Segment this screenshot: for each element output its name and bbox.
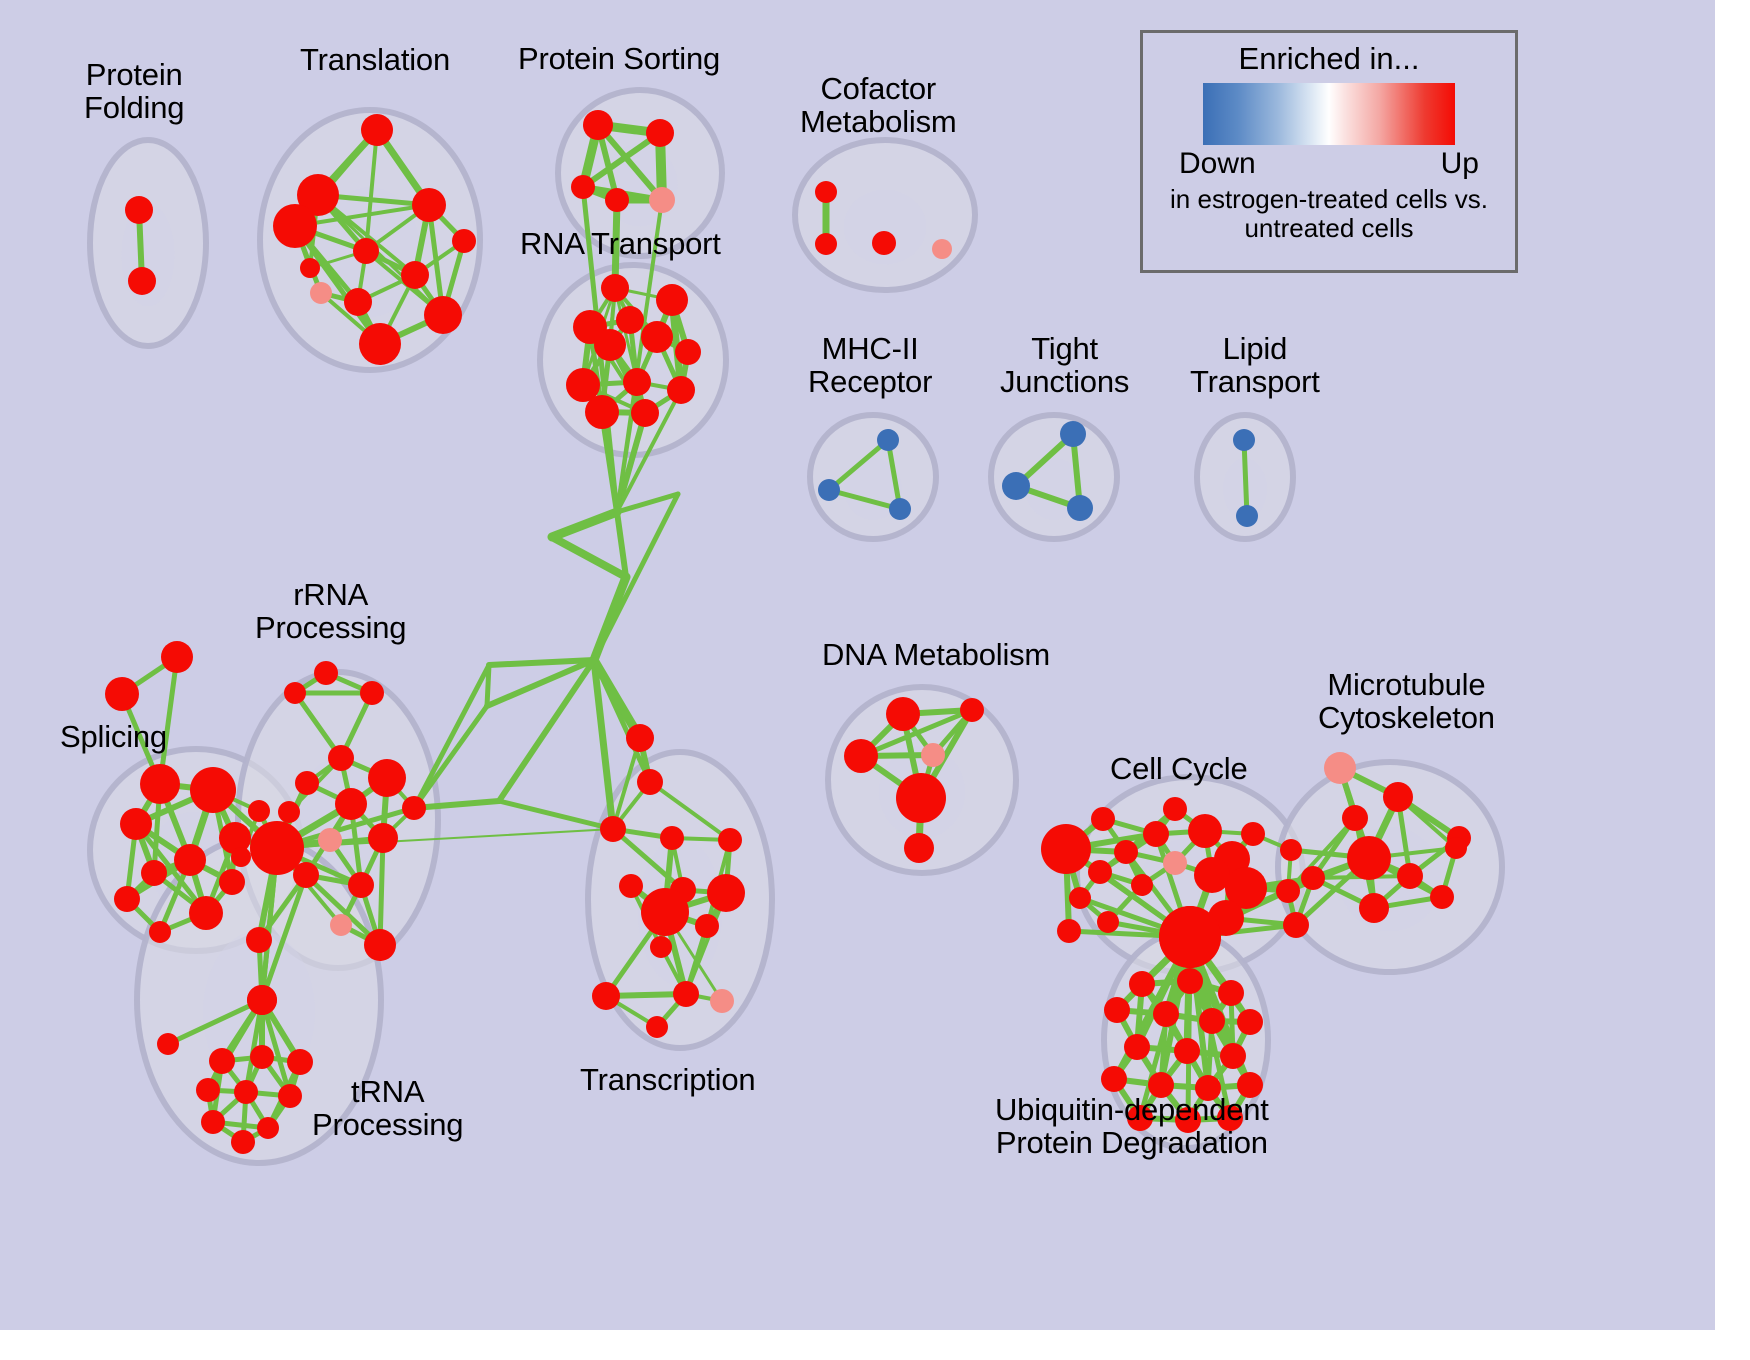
gene-set-node[interactable] [1301,866,1325,890]
gene-set-node[interactable] [1342,805,1368,831]
gene-set-node[interactable] [660,826,684,850]
gene-set-node[interactable] [231,1130,255,1154]
gene-set-node[interactable] [1143,821,1169,847]
gene-set-node[interactable] [1347,836,1391,880]
legend-color-gradient-bar [1203,83,1455,145]
gene-set-node[interactable] [314,661,338,685]
gene-set-node[interactable] [361,114,393,146]
gene-set-node[interactable] [348,872,374,898]
gene-set-node[interactable] [128,267,156,295]
gene-set-node[interactable] [1163,797,1187,821]
legend-subtitle: in estrogen-treated cells vs. untreated … [1143,185,1515,243]
gene-set-node[interactable] [904,833,934,863]
cluster-label: RNA Transport [520,227,721,260]
gene-set-node[interactable] [921,743,945,767]
gene-set-node[interactable] [1324,752,1356,784]
cluster-label: DNA Metabolism [822,638,1050,671]
gene-set-node[interactable] [1237,1009,1263,1035]
gene-set-node[interactable] [616,306,644,334]
inter-cluster-edge [414,665,489,808]
gene-set-node[interactable] [105,677,139,711]
gene-set-node[interactable] [1397,863,1423,889]
gene-set-node[interactable] [310,282,332,304]
gene-set-node[interactable] [650,936,672,958]
gene-set-node[interactable] [1199,1008,1225,1034]
cluster-label: Protein Sorting [518,42,720,75]
gene-set-node[interactable] [1069,887,1091,909]
gene-set-node[interactable] [190,767,236,813]
cluster-label: Tight Junctions [1000,332,1129,399]
gene-set-node[interactable] [452,229,476,253]
gene-set-node[interactable] [1177,968,1203,994]
gene-set-node[interactable] [140,764,180,804]
gene-set-node[interactable] [278,1084,302,1108]
cluster-label: MHC-II Receptor [808,332,932,399]
gene-set-node[interactable] [623,368,651,396]
gene-set-node[interactable] [877,429,899,451]
gene-set-node[interactable] [641,888,689,936]
gene-set-node[interactable] [359,323,401,365]
gene-set-node[interactable] [1233,429,1255,451]
inter-cluster-edge [552,512,617,537]
gene-set-node[interactable] [896,773,946,823]
gene-set-node[interactable] [889,498,911,520]
gene-set-node[interactable] [585,395,619,429]
gene-set-node[interactable] [196,1078,220,1102]
gene-set-node[interactable] [231,847,251,867]
gene-set-node[interactable] [368,759,406,797]
gene-set-node[interactable] [300,258,320,278]
gene-set-node[interactable] [125,196,153,224]
gene-set-node[interactable] [601,274,629,302]
gene-set-node[interactable] [637,769,663,795]
cluster-label: Transcription [580,1063,755,1096]
gene-set-node[interactable] [1280,839,1302,861]
gene-set-node[interactable] [344,288,372,316]
gene-set-node[interactable] [273,204,317,248]
gene-set-node[interactable] [368,823,398,853]
gene-set-node[interactable] [250,1045,274,1069]
cluster-label: Cofactor Metabolism [800,72,957,139]
gene-set-node[interactable] [667,376,695,404]
cluster-label: Lipid Transport [1190,332,1320,399]
gene-set-node[interactable] [234,1080,258,1104]
gene-set-node[interactable] [209,1048,235,1074]
gene-set-node[interactable] [710,989,734,1013]
gene-set-node[interactable] [626,724,654,752]
gene-set-node[interactable] [571,175,595,199]
gene-set-node[interactable] [1283,912,1309,938]
gene-set-node[interactable] [412,188,446,222]
gene-set-node[interactable] [1124,1034,1150,1060]
gene-set-node[interactable] [246,927,272,953]
gene-set-node[interactable] [1220,1043,1246,1069]
inter-cluster-edge [552,537,626,577]
gene-set-node[interactable] [646,119,674,147]
gene-set-node[interactable] [1114,840,1138,864]
cluster-label: Ubiquitin-dependent Protein Degradation [995,1093,1269,1160]
gene-set-node[interactable] [1163,851,1187,875]
gene-set-node[interactable] [1104,997,1130,1023]
gene-set-node[interactable] [631,399,659,427]
gene-set-node[interactable] [1383,782,1413,812]
inter-cluster-edge [499,801,613,829]
gene-set-node[interactable] [1276,879,1300,903]
gene-set-node[interactable] [872,231,896,255]
gene-set-node[interactable] [201,1110,225,1134]
legend-title: Enriched in... [1239,41,1420,77]
gene-set-node[interactable] [293,862,319,888]
gene-set-node[interactable] [1088,860,1112,884]
cluster-edge [1244,440,1247,516]
cluster-label: Cell Cycle [1110,752,1248,785]
gene-set-node[interactable] [1188,814,1222,848]
gene-set-node[interactable] [284,682,306,704]
gene-set-node[interactable] [1359,893,1389,923]
cluster-label: Translation [300,43,450,76]
gene-set-node[interactable] [646,1016,668,1038]
gene-set-node[interactable] [189,896,223,930]
gene-set-node[interactable] [174,844,206,876]
gene-set-node[interactable] [219,869,245,895]
legend-panel: Enriched in... Down Up in estrogen-treat… [1140,30,1518,273]
gene-set-node[interactable] [641,321,673,353]
cluster-label: Splicing [60,720,167,753]
gene-set-node[interactable] [1131,874,1153,896]
cluster-label: tRNA Processing [312,1075,463,1142]
cluster-label: Microtubule Cytoskeleton [1318,668,1495,735]
gene-set-node[interactable] [278,801,300,823]
gene-set-node[interactable] [149,921,171,943]
cluster-label: rRNA Processing [255,578,406,645]
gene-set-node[interactable] [1097,911,1119,933]
gene-set-node[interactable] [1091,807,1115,831]
gene-set-node[interactable] [619,874,643,898]
gene-set-node[interactable] [844,739,878,773]
gene-set-node[interactable] [707,874,745,912]
gene-set-node[interactable] [673,981,699,1007]
gene-set-node[interactable] [248,800,270,822]
gene-set-node[interactable] [815,233,837,255]
gene-set-node[interactable] [583,110,613,140]
gene-set-node[interactable] [295,771,319,795]
gene-set-node[interactable] [1194,857,1230,893]
legend-up-label: Up [1441,147,1479,181]
gene-set-node[interactable] [1060,421,1086,447]
gene-set-node[interactable] [605,188,629,212]
gene-set-node[interactable] [1174,1038,1200,1064]
gene-set-node[interactable] [818,479,840,501]
gene-set-node[interactable] [695,914,719,938]
figure-root: Enriched in... Down Up in estrogen-treat… [0,0,1750,1360]
gene-set-node[interactable] [1153,1001,1179,1027]
legend-endpoints: Down Up [1179,147,1479,181]
gene-set-node[interactable] [718,828,742,852]
gene-set-node[interactable] [960,698,984,722]
gene-set-node[interactable] [886,697,920,731]
gene-set-node[interactable] [675,339,701,365]
gene-set-node[interactable] [353,238,379,264]
gene-set-node[interactable] [594,329,626,361]
gene-set-node[interactable] [257,1117,279,1139]
gene-set-node[interactable] [318,828,342,852]
gene-set-node[interactable] [360,681,384,705]
gene-set-node[interactable] [1218,980,1244,1006]
gene-set-node[interactable] [656,284,688,316]
legend-down-label: Down [1179,147,1256,181]
gene-set-node[interactable] [287,1049,313,1075]
gene-set-node[interactable] [600,816,626,842]
gene-set-node[interactable] [1002,472,1030,500]
gene-set-node[interactable] [815,181,837,203]
gene-set-node[interactable] [1067,495,1093,521]
gene-set-node[interactable] [1445,837,1467,859]
gene-set-node[interactable] [1430,885,1454,909]
gene-set-node[interactable] [1057,919,1081,943]
gene-set-node[interactable] [335,788,367,820]
gene-set-node[interactable] [161,641,193,673]
gene-set-node[interactable] [401,261,429,289]
gene-set-node[interactable] [330,914,352,936]
gene-set-node[interactable] [1129,971,1155,997]
cluster-label: Protein Folding [84,58,184,125]
cluster-edge [380,838,383,945]
gene-set-node[interactable] [141,860,167,886]
gene-set-node[interactable] [364,929,396,961]
gene-set-node[interactable] [114,886,140,912]
gene-set-node[interactable] [1041,824,1091,874]
gene-set-node[interactable] [1159,906,1221,968]
gene-set-node[interactable] [649,187,675,213]
inter-cluster-edge [617,512,626,577]
gene-set-node[interactable] [247,985,277,1015]
gene-set-node[interactable] [120,808,152,840]
gene-set-node[interactable] [932,239,952,259]
gene-set-node[interactable] [1241,822,1265,846]
gene-set-node[interactable] [592,982,620,1010]
gene-set-node[interactable] [402,796,426,820]
gene-set-node[interactable] [157,1033,179,1055]
gene-set-node[interactable] [328,745,354,771]
gene-set-node[interactable] [424,296,462,334]
gene-set-node[interactable] [1101,1066,1127,1092]
gene-set-node[interactable] [1236,505,1258,527]
